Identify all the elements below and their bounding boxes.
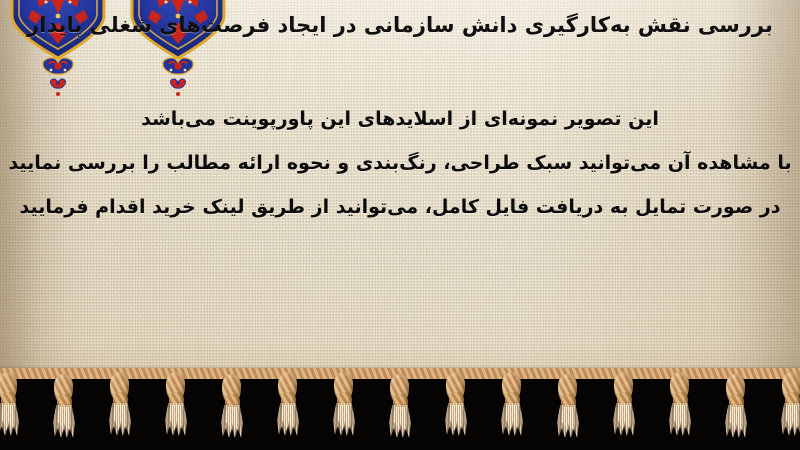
fringe-tassel bbox=[50, 374, 80, 440]
slide-body: این تصویر نمونه‌ای از اسلایدهای این پاور… bbox=[0, 108, 800, 218]
fringe-tassel bbox=[666, 372, 696, 438]
fringe-tassel bbox=[106, 372, 136, 438]
fringe-tassel bbox=[162, 372, 192, 438]
fringe-tassel bbox=[0, 372, 24, 438]
fringe-tassel bbox=[218, 374, 248, 440]
fringe-tassel bbox=[610, 372, 640, 438]
fringe-tassel bbox=[498, 372, 528, 438]
body-line-1: این تصویر نمونه‌ای از اسلایدهای این پاور… bbox=[0, 108, 800, 130]
fringe-tassel bbox=[274, 372, 304, 438]
fringe-tassel bbox=[442, 372, 472, 438]
fringe-tassel bbox=[554, 374, 584, 440]
fringe-tassel bbox=[722, 374, 752, 440]
presentation-slide: بررسی نقش به‌کارگیری دانش سازمانی در ایج… bbox=[0, 0, 800, 450]
slide-title: بررسی نقش به‌کارگیری دانش سازمانی در ایج… bbox=[0, 10, 800, 40]
fringe-tassel bbox=[778, 372, 800, 438]
fringe-tassel bbox=[330, 372, 360, 438]
body-line-3: در صورت تمایل به دریافت فایل کامل، می‌تو… bbox=[0, 196, 800, 218]
body-line-2: با مشاهده آن می‌توانید سبک طراحی، رنگ‌بن… bbox=[0, 152, 800, 174]
fringe-tassel bbox=[386, 374, 416, 440]
